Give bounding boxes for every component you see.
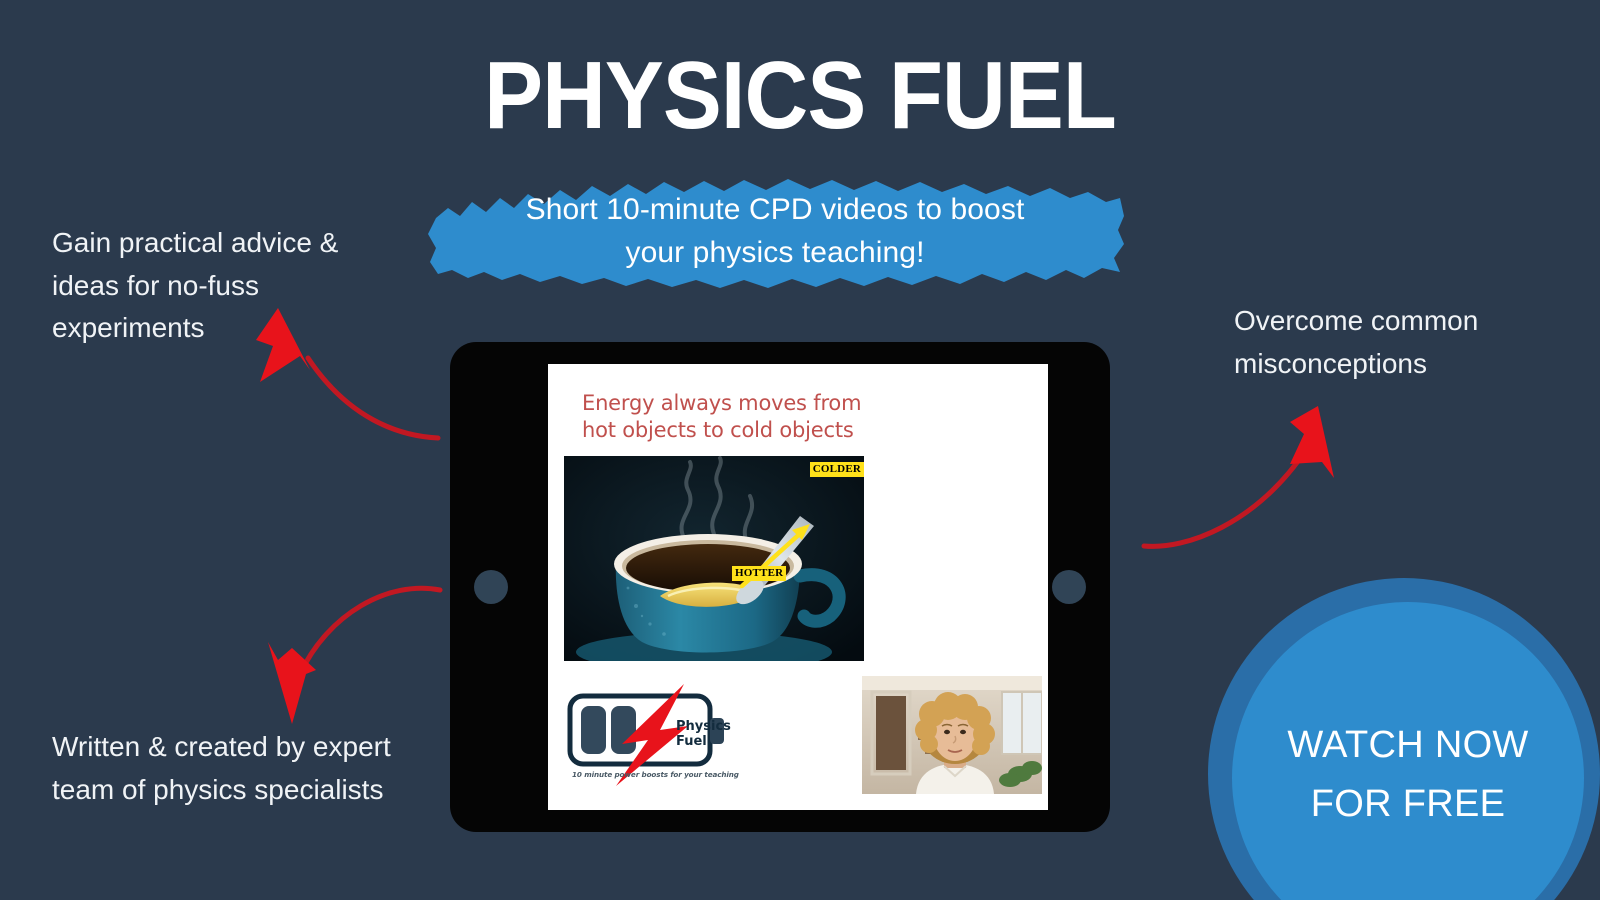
banner-line-1: Short 10-minute CPD videos to boost <box>526 188 1025 232</box>
physics-fuel-logo: Physics Fuel 10 minute power boosts for … <box>564 682 749 787</box>
coffee-cup-illustration <box>564 456 864 661</box>
presenter-webcam-thumbnail[interactable] <box>862 676 1042 794</box>
cta-line-1: WATCH NOW <box>1287 716 1528 775</box>
caption-bottom-left: Written & created by expert team of phys… <box>52 726 402 811</box>
hotter-label: HOTTER <box>732 566 786 581</box>
banner-text: Short 10-minute CPD videos to boost your… <box>420 172 1130 290</box>
curved-arrow-up-right-icon <box>1138 378 1338 553</box>
watch-now-label: WATCH NOW FOR FREE <box>1232 602 1584 900</box>
coffee-cup-photo: COLDER HOTTER <box>564 456 864 661</box>
caption-right: Overcome common misconceptions <box>1234 300 1554 385</box>
tablet-device: Energy always moves from hot objects to … <box>450 342 1110 832</box>
poster-canvas: PHYSICS FUEL Short 10-minute CPD videos … <box>0 0 1600 900</box>
slide-title: Energy always moves from hot objects to … <box>582 390 861 444</box>
page-title: PHYSICS FUEL <box>64 48 1536 144</box>
presenter-video-frame <box>862 676 1042 794</box>
banner-line-2: your physics teaching! <box>625 231 924 275</box>
brush-banner: Short 10-minute CPD videos to boost your… <box>420 172 1130 290</box>
curved-arrow-down-left-icon <box>248 552 448 727</box>
tablet-home-button-left[interactable] <box>474 570 508 604</box>
curved-arrow-up-left-icon <box>238 298 448 448</box>
tablet-screen[interactable]: Energy always moves from hot objects to … <box>548 364 1048 810</box>
colder-label: COLDER <box>810 462 864 477</box>
cta-line-2: FOR FREE <box>1311 775 1506 834</box>
logo-tagline: 10 minute power boosts for your teaching <box>572 770 739 779</box>
tablet-home-button-right[interactable] <box>1052 570 1086 604</box>
logo-name: Physics Fuel <box>676 720 731 749</box>
